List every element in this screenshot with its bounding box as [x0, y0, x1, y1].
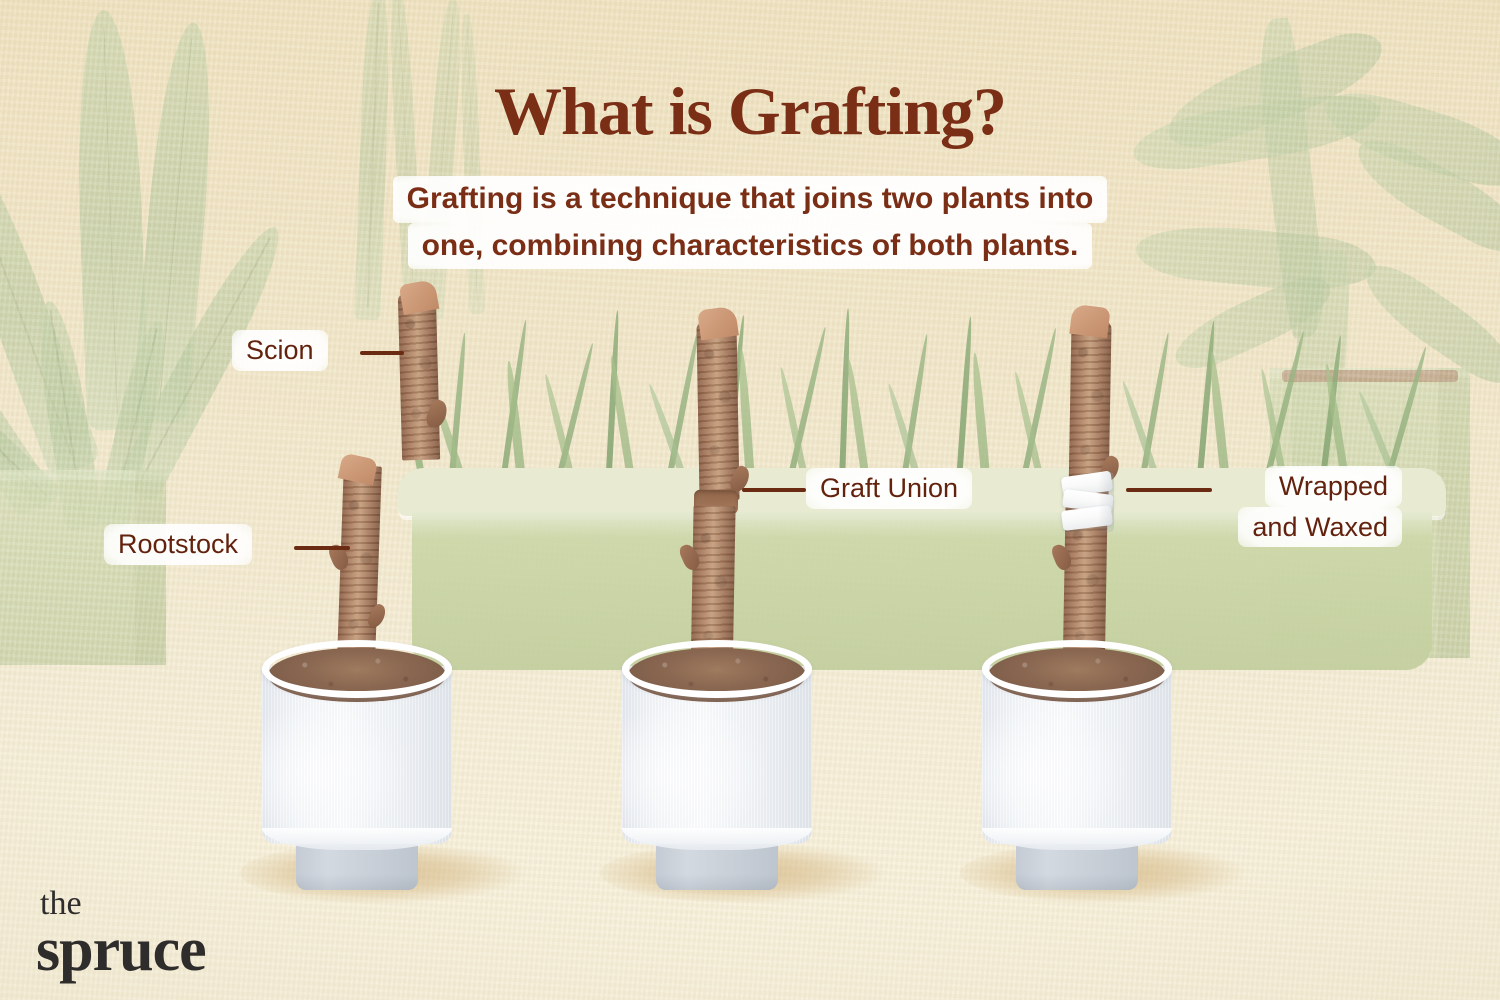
- brand-logo: the spruce: [36, 888, 206, 980]
- leader-line-scion: [360, 351, 404, 355]
- page-title: What is Grafting?: [0, 72, 1500, 151]
- pot-rim: [622, 640, 812, 698]
- branch-scion-pot-1: [398, 282, 442, 462]
- reed-blade: [354, 0, 392, 320]
- graft-wrap-shading: [1098, 472, 1114, 532]
- branch-wrapped-pot-3: [1060, 306, 1116, 688]
- page-subtitle: Grafting is a technique that joins two p…: [0, 176, 1500, 269]
- pot-rim: [982, 640, 1172, 698]
- leader-line-graft-union: [742, 488, 806, 492]
- callout-rootstock-label: Rootstock: [104, 524, 252, 565]
- callout-scion-label: Scion: [232, 330, 328, 371]
- logo-line-spruce: spruce: [36, 921, 206, 981]
- scion-cut-tip: [399, 279, 440, 315]
- pot-3: [982, 640, 1172, 890]
- callout-graft-union-label: Graft Union: [806, 468, 972, 509]
- pot-side-shading: [135, 470, 166, 665]
- reed-blade: [419, 0, 465, 320]
- callout-rootstock: Rootstock: [104, 524, 252, 565]
- branch-body: [398, 294, 440, 461]
- leader-line-rootstock: [294, 546, 350, 550]
- leader-line-wrapped-waxed: [1126, 488, 1212, 492]
- callout-graft-union: Graft Union: [806, 468, 972, 509]
- pot-rim: [262, 640, 452, 698]
- illustration-canvas: What is Grafting? Grafting is a techniqu…: [0, 0, 1500, 1000]
- scion-cut-tip: [1069, 304, 1110, 338]
- callout-wrapped-waxed: Wrapped and Waxed: [1212, 466, 1402, 547]
- pot-1: [262, 640, 452, 890]
- subtitle-line-1: Grafting is a technique that joins two p…: [393, 176, 1108, 223]
- branch-grafted-pot-2: [690, 308, 746, 686]
- subtitle-line-2: one, combining characteristics of both p…: [408, 223, 1093, 270]
- scion-cut-tip: [697, 306, 739, 341]
- callout-wrapped-line-2: and Waxed: [1238, 507, 1402, 548]
- callout-scion: Scion: [232, 330, 328, 371]
- background-square-pot: [0, 470, 166, 665]
- callout-wrapped-line-1: Wrapped: [1265, 466, 1402, 507]
- pot-2: [622, 640, 812, 890]
